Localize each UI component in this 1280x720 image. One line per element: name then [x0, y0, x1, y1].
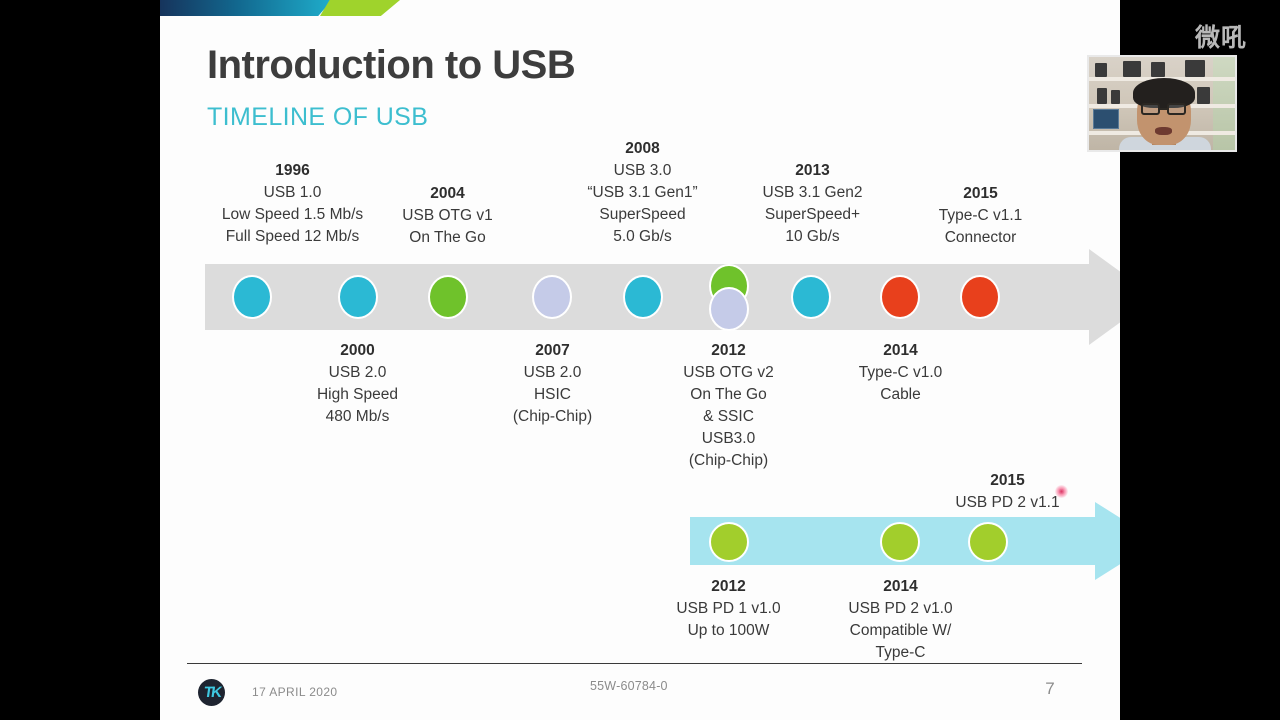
pd-label-2012: 2012 USB PD 1 v1.0 Up to 100W	[646, 576, 811, 642]
footer-divider	[187, 663, 1082, 664]
pd-label-2014: 2014 USB PD 2 v1.0 Compatible W/ Type-C	[818, 576, 983, 664]
presenter-webcam-overlay[interactable]	[1087, 55, 1237, 152]
slide-canvas: Introduction to USB TIMELINE OF USB 1996…	[160, 0, 1120, 720]
usb-timeline-arrow-head	[1089, 249, 1120, 345]
webcam-object	[1097, 88, 1107, 104]
webcam-object	[1111, 90, 1120, 104]
webcam-monitor	[1093, 109, 1119, 129]
banner-gradient-shape	[160, 0, 332, 16]
footer-page-number: 7	[1035, 679, 1065, 699]
footer-document-code: 55W-60784-0	[590, 679, 668, 693]
footer-date: 17 APRIL 2020	[252, 685, 338, 699]
timeline-label-2004: 2004 USB OTG v1 On The Go	[365, 183, 530, 249]
usb-pd-arrow-head	[1095, 502, 1120, 580]
webcam-object	[1123, 61, 1141, 77]
logo-glyph: TK	[202, 685, 220, 700]
pd-marker-2014	[880, 522, 920, 562]
timeline-label-2015-connector: 2015 Type-C v1.1 Connector	[898, 183, 1063, 249]
webcam-object	[1095, 63, 1107, 77]
pd-marker-2015	[968, 522, 1008, 562]
timeline-marker-2004	[428, 275, 468, 319]
webcam-person-glasses-right	[1167, 103, 1186, 115]
webcam-person-mouth	[1155, 127, 1172, 135]
webcam-object	[1151, 62, 1165, 77]
timeline-marker-2014	[880, 275, 920, 319]
timeline-marker-2008	[623, 275, 663, 319]
timeline-label-1996: 1996 USB 1.0 Low Speed 1.5 Mb/s Full Spe…	[195, 160, 390, 248]
timeline-label-2008: 2008 USB 3.0 “USB 3.1 Gen1” SuperSpeed 5…	[560, 138, 725, 248]
timeline-label-2007: 2007 USB 2.0 HSIC (Chip-Chip)	[470, 340, 635, 428]
vhall-watermark: 微吼	[1195, 18, 1247, 54]
timeline-marker-2012-lower	[709, 287, 749, 331]
timeline-marker-2007	[532, 275, 572, 319]
screen-root: Introduction to USB TIMELINE OF USB 1996…	[0, 0, 1280, 720]
banner-green-shape	[320, 0, 400, 16]
timeline-marker-1996	[232, 275, 272, 319]
timeline-marker-2015	[960, 275, 1000, 319]
timeline-label-2013: 2013 USB 3.1 Gen2 SuperSpeed+ 10 Gb/s	[730, 160, 895, 248]
page-title: Introduction to USB	[207, 43, 575, 88]
timeline-label-2012-otg: 2012 USB OTG v2 On The Go & SSIC USB3.0 …	[646, 340, 811, 472]
laser-pointer-core	[1059, 489, 1064, 494]
timeline-marker-2000	[338, 275, 378, 319]
timeline-label-2000: 2000 USB 2.0 High Speed 480 Mb/s	[275, 340, 440, 428]
webcam-person-glasses-left	[1141, 103, 1160, 115]
webcam-object	[1197, 87, 1210, 104]
slide-top-banner	[160, 0, 1120, 16]
webcam-person-glasses-bridge	[1160, 108, 1169, 110]
laser-pointer-cursor	[1055, 485, 1068, 498]
page-subtitle: TIMELINE OF USB	[207, 103, 428, 132]
timeline-marker-2013	[791, 275, 831, 319]
timeline-label-2014-cable: 2014 Type-C v1.0 Cable	[818, 340, 983, 406]
company-logo: TK	[198, 679, 225, 706]
pd-marker-2012	[709, 522, 749, 562]
webcam-object	[1185, 60, 1205, 77]
